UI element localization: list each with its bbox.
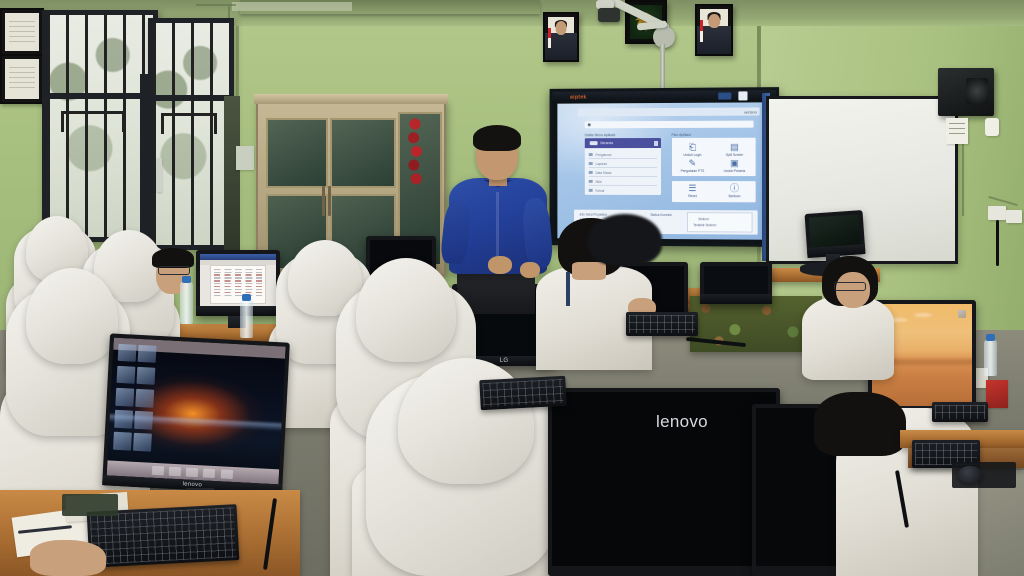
desktop-icons xyxy=(113,343,157,455)
framed-certificate xyxy=(0,54,44,104)
app-menu-item[interactable]: Keluar xyxy=(589,187,657,194)
app-feature-tile[interactable]: ⎗ Unduh Login xyxy=(672,142,714,157)
student-hijab xyxy=(26,268,118,364)
ceiling-duct xyxy=(232,2,352,11)
mouse-right[interactable] xyxy=(958,466,982,483)
menu-item-icon xyxy=(589,171,593,174)
monitor-screen xyxy=(809,214,861,247)
app-sync-line1: Sinkron xyxy=(698,217,709,221)
desktop-icon[interactable] xyxy=(138,344,157,363)
desktop-icon[interactable] xyxy=(113,432,132,451)
taskbar-item[interactable] xyxy=(186,467,199,477)
reset-icon: ☰ xyxy=(672,183,714,193)
keyboard-center[interactable] xyxy=(479,376,566,410)
desktop-icon[interactable] xyxy=(117,366,136,385)
monitor-chin xyxy=(700,294,772,304)
bottle-cap xyxy=(242,294,251,301)
framed-certificate xyxy=(0,8,44,56)
app-feature-caption: Bantuan xyxy=(713,194,755,198)
monitor-screen xyxy=(200,254,276,306)
document-row xyxy=(214,272,262,273)
wallpaper-cloud xyxy=(914,313,932,317)
mousepad xyxy=(62,494,118,516)
window-chevron xyxy=(61,111,125,132)
app-left-column-title: Daftar Menu Aplikasi xyxy=(585,133,616,137)
speaker-cone-icon xyxy=(966,78,988,104)
app-footer-title: Info Versi Proyektor xyxy=(580,212,607,216)
app-footer-connection-label: Status Koneksi xyxy=(650,213,671,217)
spreadsheet-wallpaper xyxy=(200,254,276,306)
cabinet-handle[interactable] xyxy=(328,186,331,216)
app-menu-item[interactable]: Laporan xyxy=(589,160,657,168)
desktop-icon[interactable] xyxy=(134,411,153,430)
monitor-front-left: lenovo xyxy=(102,333,290,494)
monitor-screen xyxy=(107,338,286,485)
teacher-hand xyxy=(520,262,540,278)
student-neck xyxy=(572,262,606,280)
document-row xyxy=(214,292,262,293)
desktop-icon[interactable] xyxy=(136,389,155,408)
app-feature-caption: Reset xyxy=(672,194,714,198)
menu-item-icon xyxy=(589,153,593,156)
menu-item-icon xyxy=(589,180,593,183)
app-sync-box[interactable]: Sinkron Terakhir Sinkron xyxy=(687,213,752,233)
screen-bezel: aiptek xyxy=(553,90,776,103)
vice-president-portrait-frame xyxy=(695,4,733,56)
download-login-icon: ⎗ xyxy=(672,142,714,152)
app-feature-panel-primary: ⎗ Unduh Login ▤ Split Screen ✎ Pengatura… xyxy=(672,138,756,176)
document-row xyxy=(214,286,262,287)
app-topbar: version xyxy=(578,108,760,117)
app-menu-item[interactable]: Nilai xyxy=(589,178,657,186)
student-hair xyxy=(814,392,906,456)
monitor-brand-label: LG xyxy=(500,358,509,364)
student-hair xyxy=(152,248,194,268)
tag-line xyxy=(949,128,965,129)
water-bottle xyxy=(240,300,253,338)
glasses-icon xyxy=(834,282,866,291)
monitor-chin xyxy=(196,306,280,316)
screen-badge-secondary xyxy=(738,91,747,100)
taskbar-item[interactable] xyxy=(220,469,233,479)
keyboard-keys xyxy=(935,405,985,419)
red-box xyxy=(986,380,1008,408)
window-mullion xyxy=(47,93,153,99)
tag-line xyxy=(949,123,965,124)
portrait-head xyxy=(556,21,567,35)
desktop-icon[interactable] xyxy=(958,310,966,318)
portrait-flag xyxy=(548,28,551,48)
portrait-flag xyxy=(700,20,703,41)
wall-dark-panel xyxy=(224,96,240,272)
app-version-label: version xyxy=(744,109,757,114)
menu-item-icon xyxy=(589,162,593,165)
document-row xyxy=(214,269,262,270)
taskbar-item[interactable] xyxy=(169,466,182,476)
menu-row-badge xyxy=(654,141,658,146)
document-row xyxy=(214,289,262,290)
water-bottle xyxy=(984,340,997,376)
document-row xyxy=(214,280,262,281)
photo-scene: A teacher in a blue shirt stands in fron… xyxy=(0,0,1024,576)
screen-brand-label: aiptek xyxy=(570,94,587,100)
help-icon: ⓘ xyxy=(713,183,755,193)
window-door-handle xyxy=(157,158,162,192)
wall-speaker xyxy=(938,68,994,116)
app-menu-item-label: Laporan xyxy=(595,162,607,166)
menu-tag-icon xyxy=(590,142,598,146)
app-feature-tile[interactable]: ▣ Unduh Peserta xyxy=(713,158,755,173)
document-row xyxy=(214,274,262,275)
wall-hook-tag xyxy=(985,118,999,136)
certificate-lines xyxy=(9,67,35,91)
bottle-cap xyxy=(986,334,995,341)
split-screen-icon: ▤ xyxy=(713,142,755,152)
menu-item-icon xyxy=(589,189,593,192)
water-bottle xyxy=(180,282,193,324)
app-right-column-title: Fitur Aplikasi xyxy=(672,133,691,137)
settings-pts-icon: ✎ xyxy=(672,158,714,168)
cabinet-glass-pane xyxy=(330,118,396,188)
student-hand-typing xyxy=(30,540,106,576)
app-menu-list: Beranda Pengaturan Laporan Data Siswa xyxy=(585,138,661,195)
app-feature-tile[interactable]: ▤ Split Screen xyxy=(713,142,755,157)
desktop-icon[interactable] xyxy=(133,433,152,452)
certificate-page xyxy=(5,13,39,51)
keyboard-keys xyxy=(629,315,695,333)
monitor-screen xyxy=(704,266,768,294)
window-mullion xyxy=(153,95,229,101)
app-feature-tile[interactable]: ✎ Pengaturan PTS xyxy=(672,158,714,173)
document-sheet xyxy=(211,266,266,302)
app-menu-item[interactable]: Pengaturan xyxy=(589,151,657,159)
cabinet-glass-pane xyxy=(266,118,328,188)
app-menu-item-label: Nilai xyxy=(595,180,601,184)
glasses-icon xyxy=(158,266,190,275)
app-feature-tile[interactable]: ⓘ Bantuan xyxy=(713,183,755,198)
teacher-hand xyxy=(488,256,512,274)
app-menu-item[interactable]: Data Siswa xyxy=(589,169,657,177)
bottle-cap xyxy=(182,276,191,283)
taskbar-item[interactable] xyxy=(203,468,216,478)
document-row xyxy=(214,277,262,278)
tag-line xyxy=(949,133,965,134)
teacher-shirt-placket xyxy=(496,192,499,256)
projector-head xyxy=(598,8,620,22)
search-icon xyxy=(588,123,591,126)
window-center-post xyxy=(140,74,152,240)
document-toolbar xyxy=(200,260,276,265)
monitor-brand-label: lenovo xyxy=(656,412,708,432)
app-menu-item-label: Keluar xyxy=(595,189,604,193)
monitor-back-right xyxy=(700,262,772,304)
barred-window-right xyxy=(148,18,234,250)
download-participant-icon: ▣ xyxy=(713,158,755,168)
app-menu-selected-row[interactable]: Beranda xyxy=(585,138,661,148)
app-feature-caption: Pengaturan PTS xyxy=(672,169,714,173)
app-sync-line2: Terakhir Sinkron xyxy=(693,224,716,228)
chili-decoration xyxy=(408,118,422,194)
power-outlet xyxy=(988,206,1006,220)
app-menu-item-label: Data Siswa xyxy=(595,171,611,175)
app-feature-tile[interactable]: ☰ Reset xyxy=(672,183,714,198)
app-feature-caption: Split Screen xyxy=(713,153,755,157)
student-hijab xyxy=(356,258,456,362)
certificate-lines xyxy=(9,21,35,44)
teacher-hair xyxy=(473,125,521,151)
document-row xyxy=(214,295,262,296)
wall-small-panel xyxy=(236,146,254,170)
hanging-cable xyxy=(996,220,999,266)
student-uniform xyxy=(802,296,894,380)
keyboard-keys xyxy=(482,379,563,407)
desktop-icon[interactable] xyxy=(114,410,133,429)
window-chevron xyxy=(161,113,217,134)
window-bars xyxy=(153,23,229,245)
app-search-field[interactable] xyxy=(585,120,754,128)
app-menu-item-label: Pengaturan xyxy=(595,153,611,157)
certificate-page xyxy=(5,59,39,99)
wall-wire xyxy=(196,4,236,6)
president-portrait-frame xyxy=(543,12,579,62)
document-row xyxy=(214,283,262,284)
cabinet-top xyxy=(254,94,448,104)
equipment-tag xyxy=(946,118,968,144)
desktop-icon[interactable] xyxy=(115,388,134,407)
cabinet-handle[interactable] xyxy=(322,186,325,216)
app-menu-selected-label: Beranda xyxy=(600,141,613,145)
screen-badge xyxy=(718,92,731,99)
monitor-below-whiteboard xyxy=(805,210,866,258)
id-lanyard xyxy=(566,272,570,306)
keyboard-center-back[interactable] xyxy=(626,312,698,336)
app-feature-caption: Unduh Peserta xyxy=(713,169,755,173)
app-feature-caption: Unduh Login xyxy=(672,153,714,157)
power-outlet xyxy=(1006,210,1022,223)
desktop-icon[interactable] xyxy=(118,343,137,362)
taskbar-item[interactable] xyxy=(151,465,164,475)
app-feature-panel-secondary: ☰ Reset ⓘ Bantuan xyxy=(672,181,756,203)
hand-silhouette xyxy=(588,214,662,266)
keyboard-right-back[interactable] xyxy=(932,402,988,422)
desktop-icon[interactable] xyxy=(137,367,156,386)
monitor-front-center: lenovo xyxy=(548,388,780,576)
portrait-head xyxy=(708,14,720,28)
monitor-spreadsheet xyxy=(196,250,280,316)
